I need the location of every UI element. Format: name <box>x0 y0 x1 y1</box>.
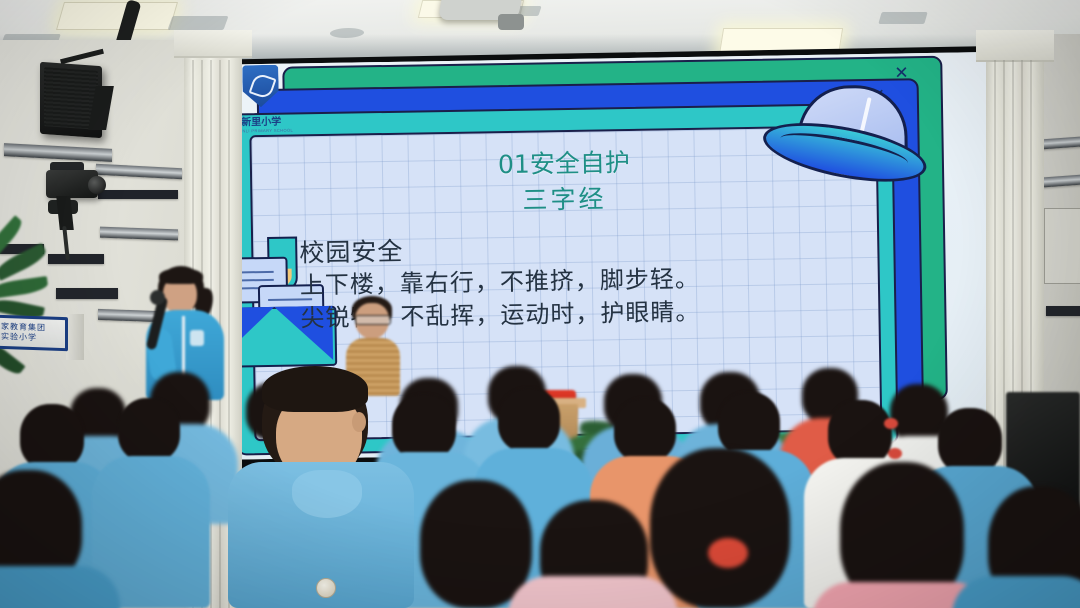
hair-tie <box>888 448 902 459</box>
projector-lens-icon <box>498 14 524 30</box>
ceiling-vent <box>878 12 927 24</box>
hair-tie <box>884 418 898 429</box>
wall-trim <box>1046 306 1080 316</box>
wall-panel <box>1044 208 1080 284</box>
uniform-badge <box>316 578 336 598</box>
school-crest-icon: 革新里小学 GEXINLI PRIMARY SCHOOL <box>242 65 279 112</box>
sign-post <box>66 314 84 360</box>
glasses-icon <box>355 315 391 325</box>
school-sign-line2: 实验小学 <box>1 332 65 344</box>
hair-tie <box>708 538 748 568</box>
ceiling-light <box>56 2 178 30</box>
screenshot-root: 家教育集团 实验小学 ✕ ✕ ✕ <box>0 0 1080 608</box>
ceiling-vent <box>167 16 228 30</box>
potted-plant-left <box>0 224 110 384</box>
wall-trim <box>98 190 178 199</box>
camera-lens-icon <box>88 176 106 194</box>
school-name-sign: 家教育集团 实验小学 <box>0 315 68 352</box>
